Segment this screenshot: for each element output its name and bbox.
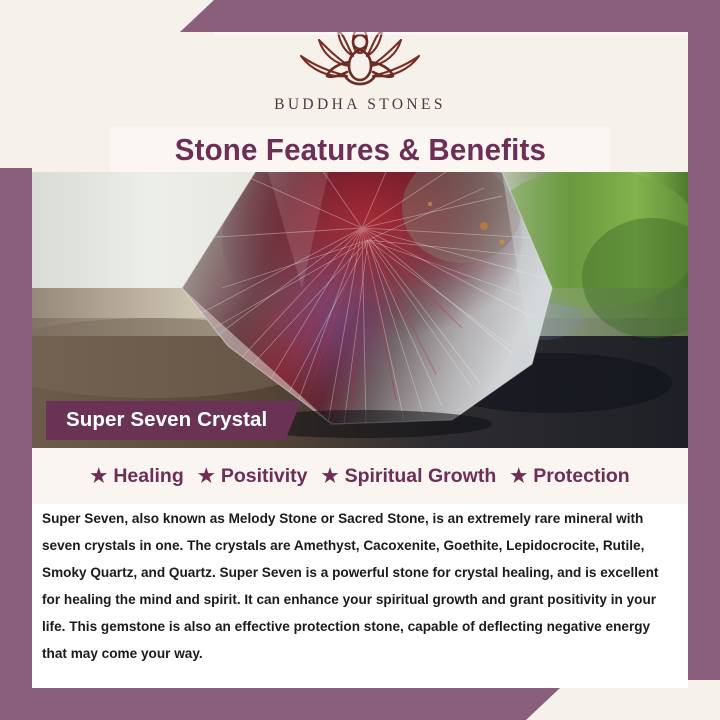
benefit-healing: ★ Healing: [90, 465, 183, 488]
description-card: ★ Healing ★ Positivity ★ Spiritual Growt…: [32, 448, 688, 688]
crystal-photo: Super Seven Crystal: [32, 168, 688, 448]
page-title: Stone Features & Benefits: [174, 132, 545, 168]
star-icon: ★: [90, 467, 107, 486]
frame-right-bar: [688, 32, 720, 680]
stone-name-label: Super Seven Crystal: [66, 408, 267, 431]
frame-bottom-bar: [0, 688, 560, 720]
benefit-label: Positivity: [221, 465, 308, 488]
frame-left-bar: [0, 168, 32, 720]
benefit-spiritual-growth: ★ Spiritual Growth: [322, 465, 497, 488]
title-banner: Stone Features & Benefits: [110, 127, 610, 172]
star-icon: ★: [510, 467, 527, 486]
benefits-row: ★ Healing ★ Positivity ★ Spiritual Growt…: [32, 448, 688, 504]
brand-name: BUDDHA STONES: [274, 96, 446, 114]
star-icon: ★: [198, 467, 215, 486]
benefit-positivity: ★ Positivity: [198, 465, 308, 488]
benefit-label: Healing: [113, 465, 183, 488]
benefit-label: Protection: [533, 465, 629, 488]
frame-top-bar: [180, 0, 720, 32]
benefit-label: Spiritual Growth: [345, 465, 497, 488]
stone-name-banner: Super Seven Crystal: [46, 401, 301, 440]
star-icon: ★: [322, 467, 339, 486]
infographic-page: Super Seven Crystal ★ Healing ★ Positivi…: [0, 0, 720, 720]
description-text: Super Seven, also known as Melody Stone …: [42, 506, 678, 667]
frame-accent-line: [214, 32, 688, 35]
benefit-protection: ★ Protection: [510, 465, 629, 488]
